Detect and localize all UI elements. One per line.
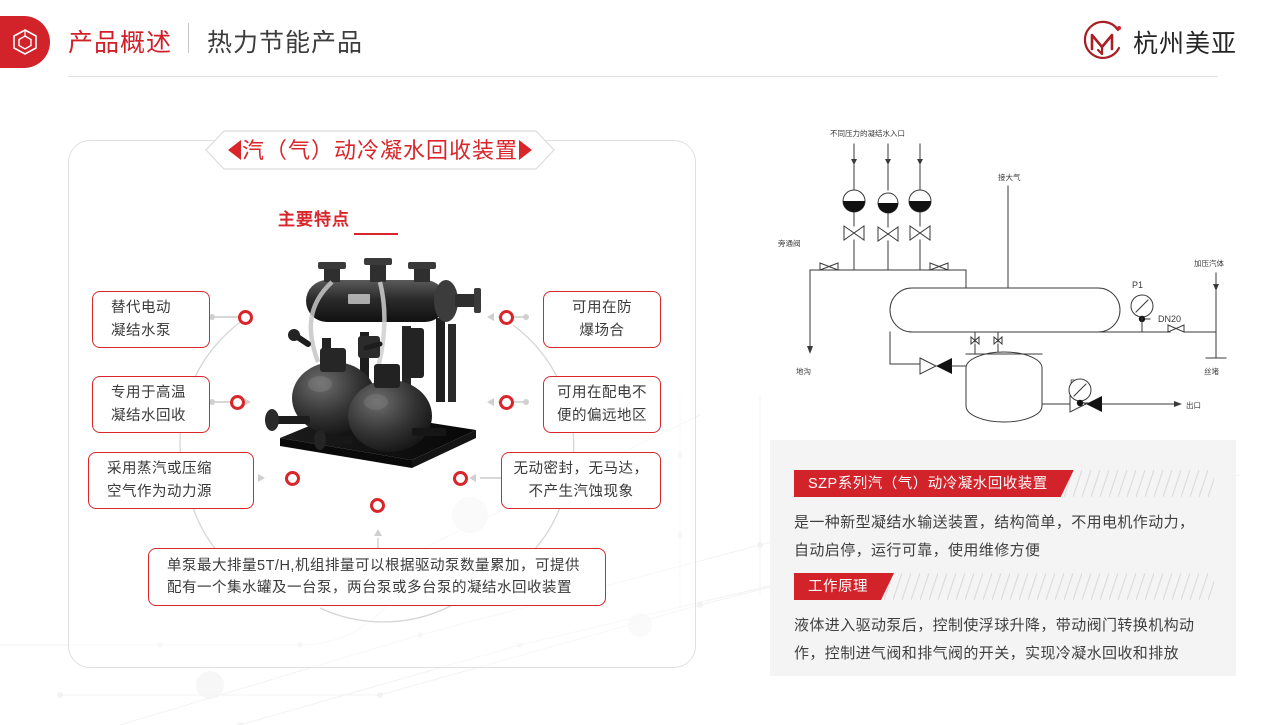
section-header: 工作原理 [794,573,1214,600]
feature-line: 可用在配电不 [544,382,660,404]
label-to-atmosphere: 接大气 [998,172,1021,182]
feature-line: 凝结水回收 [111,405,209,427]
page-subtitle: 热力节能产品 [207,23,363,59]
main-features-underline [354,233,398,235]
feature-line: 可用在防 [544,297,660,319]
label-p1: P1 [1132,280,1143,290]
label-inlet: 不同压力的凝结水入口 [830,128,905,138]
slide-root: 产品概述 热力节能产品 杭州美亚 [0,0,1285,725]
feature-line: 无动密封，无马达， [502,458,660,480]
section-body-line: 液体进入驱动泵后，控制使浮球升降，带动阀门转换机构动 [794,612,1214,640]
feature-line: 单泵最大排量5T/H,机组排量可以根据驱动泵数量累加，可提供 [167,555,605,577]
label-pressurized-gas: 加压汽体 [1194,258,1224,268]
header-divider [188,23,189,53]
feature-box-3[interactable]: 采用蒸汽或压缩 空气作为动力源 [88,452,254,509]
feature-line: 便的偏远地区 [544,405,660,427]
section-tag: SZP系列汽（气）动冷凝水回收装置 [794,470,1074,497]
header-badge [0,16,50,68]
cube-box-icon [12,28,38,56]
section-body-line: 作，控制进气阀和排气阀的开关，实现冷凝水回收和排放 [794,640,1214,668]
section-ribbon: 汽（气）动冷凝水回收装置 [204,129,556,171]
label-outlet: 出口 [1186,400,1201,410]
section-working-principle: 工作原理 液体进入驱动泵后，控制使浮球升降，带动阀门转换机构动 作，控制进气阀和… [794,573,1214,668]
section-body: 是一种新型凝结水输送装置，结构简单，不用电机作动力， 自动启停，运行可靠，使用维… [794,509,1214,565]
feature-node-3 [285,471,300,486]
feature-node-4 [499,310,514,325]
section-tag: 工作原理 [794,573,894,600]
feature-line: 采用蒸汽或压缩 [107,458,253,480]
feature-node-1 [238,310,253,325]
page-title: 产品概述 [68,23,172,59]
schematic-diagram: 不同压力的凝结水入口 [770,118,1236,440]
info-panel: 不同压力的凝结水入口 [770,118,1236,676]
label-bypass-valve: 旁通阀 [778,238,801,248]
feature-line: 专用于高温 [111,382,209,404]
feature-line: 爆场合 [544,320,660,342]
main-features-label: 主要特点 [0,205,628,230]
label-plug: 丝堵 [1204,366,1220,376]
section-body-line: 是一种新型凝结水输送装置，结构简单，不用电机作动力， [794,509,1214,537]
feature-line: 配有一个集水罐及一台泵，两台泵或多台泵的凝结水回收装置 [167,577,605,599]
feature-line: 不产生汽蚀现象 [502,481,660,503]
label-dn20: DN20 [1158,314,1181,324]
feature-box-1[interactable]: 替代电动 凝结水泵 [92,291,210,348]
feature-box-4[interactable]: 可用在防 爆场合 [543,291,661,348]
feature-node-7 [370,498,385,513]
brand-logo: 杭州美亚 [1078,18,1237,66]
feature-box-5[interactable]: 可用在配电不 便的偏远地区 [543,376,661,433]
feature-box-7[interactable]: 单泵最大排量5T/H,机组排量可以根据驱动泵数量累加，可提供 配有一个集水罐及一… [148,548,606,606]
section-header: SZP系列汽（气）动冷凝水回收装置 [794,470,1214,497]
feature-node-2 [230,395,245,410]
feature-line: 凝结水泵 [111,320,209,342]
meiya-m-circle-logo-icon [1078,18,1126,66]
product-photo [262,252,494,478]
feature-node-6 [453,471,468,486]
feature-box-2[interactable]: 专用于高温 凝结水回收 [92,376,210,433]
brand-name: 杭州美亚 [1133,24,1237,60]
feature-box-6[interactable]: 无动密封，无马达， 不产生汽蚀现象 [501,452,661,509]
feature-line: 空气作为动力源 [107,481,253,503]
feature-node-5 [499,395,514,410]
schematic-svg: 不同压力的凝结水入口 [770,118,1236,440]
feature-line: 替代电动 [111,297,209,319]
header-rule [68,76,1218,77]
section-body: 液体进入驱动泵后，控制使浮球升降，带动阀门转换机构动 作，控制进气阀和排气阀的开… [794,612,1214,668]
section-szp-series: SZP系列汽（气）动冷凝水回收装置 是一种新型凝结水输送装置，结构简单，不用电机… [794,470,1214,565]
section-body-line: 自动启停，运行可靠，使用维修方便 [794,537,1214,565]
label-drain: 地沟 [796,366,811,376]
page-header: 产品概述 热力节能产品 杭州美亚 [0,0,1285,84]
ribbon-title: 汽（气）动冷凝水回收装置 [204,129,556,171]
